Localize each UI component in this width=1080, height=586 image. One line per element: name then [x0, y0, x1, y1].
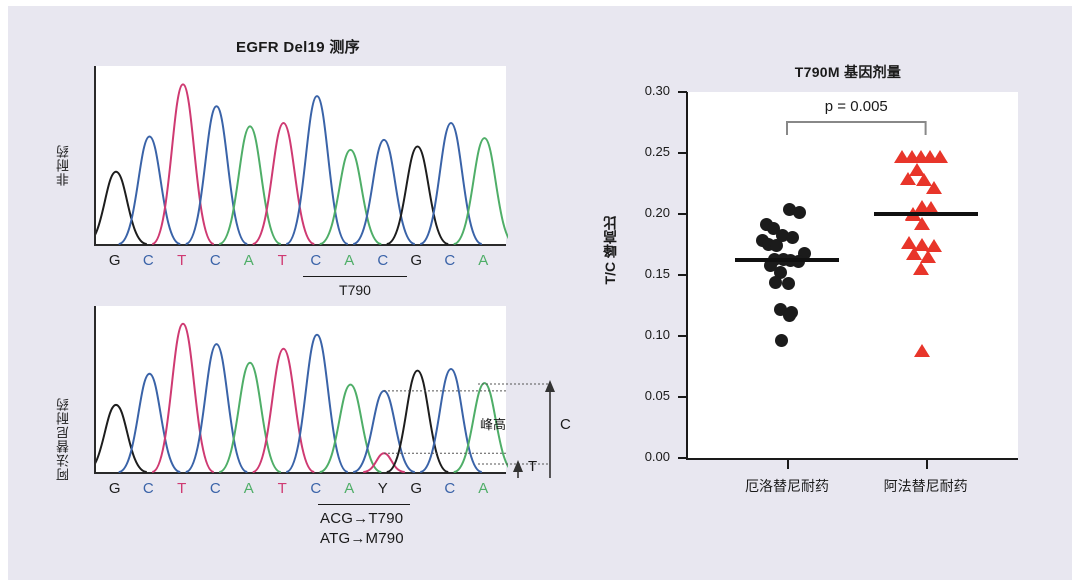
sequence-base-a: A — [232, 480, 266, 497]
y-axis-tick — [678, 457, 687, 459]
y-axis-tick-label: 0.05 — [624, 388, 670, 403]
sequencing-panel-title: EGFR Del19 测序 — [138, 36, 458, 57]
x-axis-line — [686, 458, 1018, 460]
sequence-base-t: T — [165, 252, 199, 269]
top-chromatogram — [94, 66, 506, 246]
peak-t-label: T — [528, 458, 537, 475]
top-chromatogram-plot — [94, 66, 506, 246]
y-axis-tick — [678, 335, 687, 337]
y-axis-title: T/C 峰高比 — [600, 216, 620, 284]
sequence-base-g: G — [400, 480, 434, 497]
sequence-base-t: T — [165, 480, 199, 497]
y-axis-tick-label: 0.20 — [624, 205, 670, 220]
bottom-chromatogram-plot — [94, 306, 506, 474]
figure-canvas: EGFR Del19 测序 非耐药 GCTCATCACGCA T790 阿法替尼… — [8, 6, 1072, 580]
x-axis-category-label: 厄洛替尼耐药 — [707, 476, 867, 496]
y-axis-tick-label: 0.15 — [624, 266, 670, 281]
sequence-base-a: A — [333, 252, 367, 269]
top-chromatogram-traces — [96, 66, 508, 246]
sequence-base-c: C — [132, 252, 166, 269]
sequence-base-g: G — [98, 480, 132, 497]
codon-wildtype-product: T790 — [368, 510, 403, 527]
y-axis-tick — [678, 152, 687, 154]
sequence-base-y: Y — [366, 480, 400, 497]
bottom-trace-row-label: 阿法替尼耐药 — [54, 371, 73, 481]
x-axis-category-label: 阿法替尼耐药 — [846, 476, 1006, 496]
dotplot-panel: T790M 基因剂量 p = 0.005 0.000.050.100.150.2… — [588, 6, 1072, 580]
t790-underline — [303, 276, 407, 277]
y-axis-line — [686, 92, 688, 460]
codon-wildtype: ACG — [320, 510, 353, 527]
sequence-base-a: A — [333, 480, 367, 497]
y-axis-tick-label: 0.10 — [624, 327, 670, 342]
top-sequence-row: GCTCATCACGCA — [98, 252, 500, 269]
sequence-base-c: C — [433, 480, 467, 497]
y-axis-tick-label: 0.30 — [624, 83, 670, 98]
y-axis-tick — [678, 213, 687, 215]
sequence-base-c: C — [433, 252, 467, 269]
y-axis-tick — [678, 274, 687, 276]
t790-label: T790 — [298, 282, 412, 298]
bottom-chromatogram-traces — [96, 306, 508, 474]
sequence-base-c: C — [366, 252, 400, 269]
y-axis-tick-label: 0.25 — [624, 144, 670, 159]
peak-c-label: C — [560, 416, 571, 433]
sequence-base-c: C — [299, 252, 333, 269]
sequencing-panel: EGFR Del19 测序 非耐药 GCTCATCACGCA T790 阿法替尼… — [8, 6, 588, 580]
sequence-base-t: T — [266, 480, 300, 497]
sequence-base-t: T — [266, 252, 300, 269]
arrow-right-icon: → — [353, 510, 368, 527]
significance-bracket — [688, 92, 1018, 458]
bottom-codon-underline — [318, 504, 410, 505]
x-axis-tick — [926, 460, 928, 469]
sequence-base-a: A — [232, 252, 266, 269]
dotplot-pvalue-layer: p = 0.005 — [688, 92, 1018, 458]
codon-mutant-product: M790 — [366, 530, 404, 547]
y-axis-tick-label: 0.00 — [624, 449, 670, 464]
sequence-base-g: G — [98, 252, 132, 269]
p-value-label: p = 0.005 — [756, 98, 956, 115]
dotplot-plot-area: p = 0.005 — [688, 92, 1018, 458]
top-trace-row-label: 非耐药 — [54, 106, 73, 186]
codon-wildtype-annotation: ACG→T790 — [320, 510, 403, 527]
sequence-base-c: C — [199, 252, 233, 269]
arrow-right-icon: → — [350, 530, 365, 547]
sequence-base-c: C — [199, 480, 233, 497]
bottom-sequence-row: GCTCATCAYGCA — [98, 480, 500, 497]
y-axis-tick — [678, 91, 687, 93]
sequence-base-c: C — [132, 480, 166, 497]
sequence-base-c: C — [299, 480, 333, 497]
dotplot-title: T790M 基因剂量 — [648, 62, 1048, 82]
codon-mutant-annotation: ATG→M790 — [320, 530, 404, 547]
y-axis-tick — [678, 396, 687, 398]
sequence-base-a: A — [467, 252, 501, 269]
sequence-base-g: G — [400, 252, 434, 269]
peak-height-label: 峰高 — [480, 414, 506, 433]
x-axis-tick — [787, 460, 789, 469]
peak-height-annotation: 峰高 C T — [478, 366, 588, 491]
codon-mutant: ATG — [320, 530, 350, 547]
bottom-chromatogram — [94, 306, 506, 474]
